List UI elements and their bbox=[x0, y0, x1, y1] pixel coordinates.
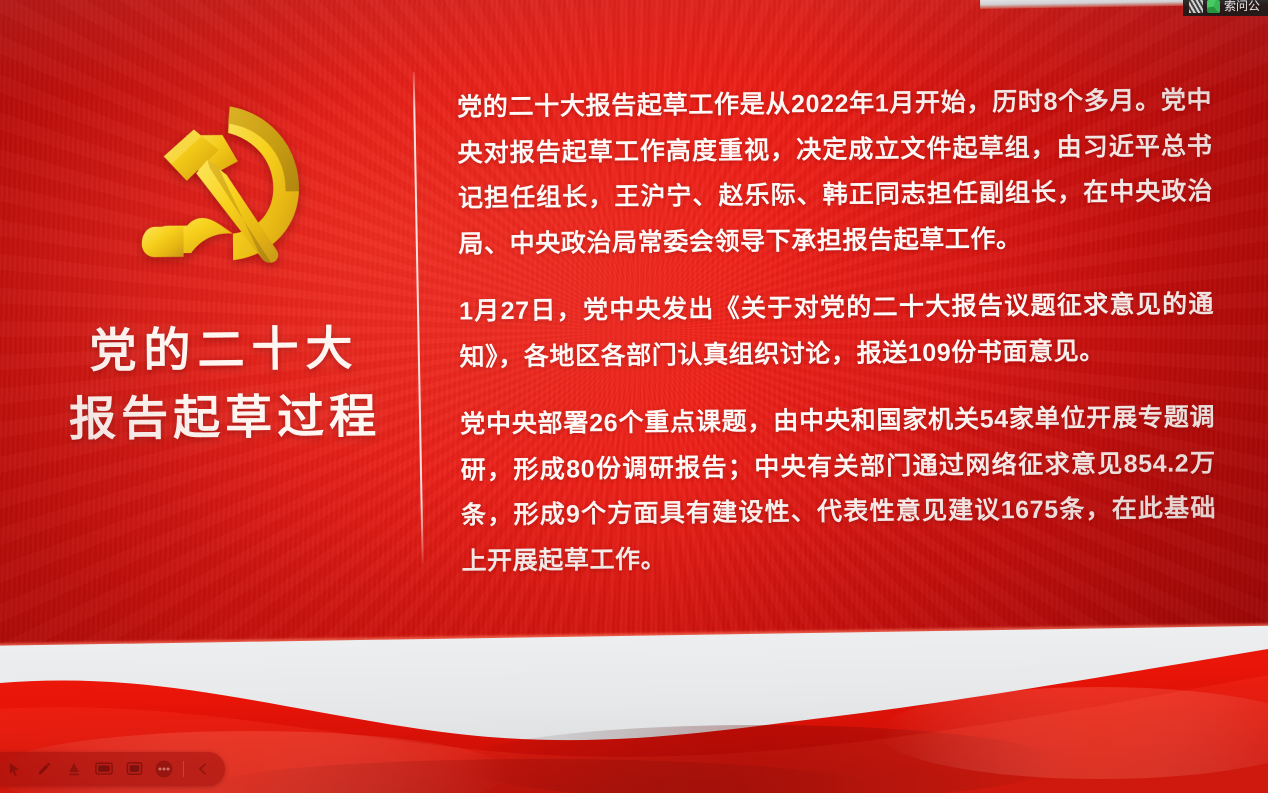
presentation-slide: 党的二十大 报告起草过程 党的二十大报告起草工作是从2022年1月开始，历时8个… bbox=[0, 0, 1268, 658]
chevron-left-icon bbox=[196, 762, 210, 776]
screen-button[interactable] bbox=[90, 756, 118, 782]
slide-title-line-1: 党的二十大 bbox=[49, 314, 400, 385]
vertical-divider bbox=[413, 72, 424, 564]
more-button[interactable] bbox=[150, 756, 178, 782]
collapse-button[interactable] bbox=[189, 756, 217, 782]
slide-title-line-2: 报告起草过程 bbox=[50, 382, 401, 453]
cpc-party-emblem-icon bbox=[127, 81, 319, 273]
screen-icon bbox=[95, 761, 113, 777]
highlighter-icon bbox=[66, 761, 82, 777]
slide-title: 党的二十大 报告起草过程 bbox=[49, 314, 400, 454]
toolbar-separator bbox=[183, 761, 184, 777]
annotation-toolbar[interactable] bbox=[0, 752, 225, 786]
highlighter-button[interactable] bbox=[60, 756, 88, 782]
watermark-badge: 索问公 bbox=[1183, 0, 1268, 16]
whiteboard-icon bbox=[126, 761, 143, 777]
more-dots-icon bbox=[154, 759, 174, 779]
cursor-icon bbox=[7, 762, 22, 777]
paragraph-2: 1月27日，党中央发出《关于对党的二十大报告议题征求意见的通知》，各地区各部门认… bbox=[459, 282, 1215, 380]
green-shield-icon bbox=[1207, 0, 1220, 13]
hatch-pattern-icon bbox=[1189, 0, 1203, 13]
pen-button[interactable] bbox=[30, 756, 58, 782]
pen-icon bbox=[36, 761, 52, 777]
paragraph-1: 党的二十大报告起草工作是从2022年1月开始，历时8个多月。党中央对报告起草工作… bbox=[457, 78, 1214, 267]
watermark-label: 索问公 bbox=[1224, 0, 1260, 16]
cursor-button[interactable] bbox=[0, 756, 28, 782]
slide-left-column: 党的二十大 报告起草过程 bbox=[47, 56, 402, 579]
whiteboard-button[interactable] bbox=[120, 756, 148, 782]
screenshot-stage: 党的二十大 报告起草过程 党的二十大报告起草工作是从2022年1月开始，历时8个… bbox=[0, 0, 1268, 793]
paragraph-3: 党中央部署26个重点课题，由中央和国家机关54家单位开展专题调研，形成80份调研… bbox=[460, 395, 1217, 584]
slide-body-text: 党的二十大报告起草工作是从2022年1月开始，历时8个多月。党中央对报告起草工作… bbox=[457, 78, 1217, 584]
